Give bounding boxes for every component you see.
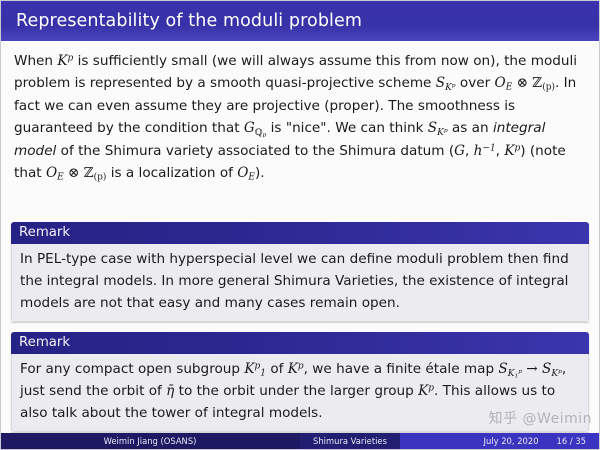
math-S-Kp-2: SKp — [428, 120, 448, 136]
slide-body-text: When Kp is sufficiently small (we will a… — [14, 50, 588, 184]
slide-title-bar: Representability of the moduli problem — [0, 0, 600, 41]
remark-block-2: Remark For any compact open subgroup Kp1… — [11, 332, 589, 432]
title-underline — [0, 41, 600, 43]
math-tensor-1: ⊗ — [512, 75, 532, 91]
math-datum-K-p: Kp — [504, 143, 520, 159]
math-K-p-1: Kp — [57, 53, 73, 69]
page-title: Representability of the moduli problem — [0, 11, 362, 31]
math-O-E-1: OE — [495, 75, 513, 91]
remark2-text-5: to the orbit under the larger group — [174, 383, 418, 399]
math-Z-p-1: ℤ(p) — [532, 75, 555, 91]
math-tensor-2: ⊗ — [64, 165, 84, 181]
remark2-text-2: of — [266, 361, 288, 377]
body-text-6: as an — [448, 120, 493, 136]
math-K1-p: Kp1 — [244, 361, 266, 377]
footer-author: Weimin Jiang (OSANS) — [0, 433, 300, 450]
body-paragraph: When Kp is sufficiently small (we will a… — [14, 50, 588, 184]
body-text-1: When — [14, 53, 57, 69]
body-text-3: over — [456, 75, 495, 91]
footer-date: July 20, 2020 — [484, 433, 539, 450]
remark-block-1: Remark In PEL-type case with hyperspecia… — [11, 222, 589, 322]
body-text-9: is a localization of — [106, 165, 237, 181]
remark-2-body: For any compact open subgroup Kp1 of Kp,… — [11, 354, 589, 432]
remark-1-body: In PEL-type case with hyperspecial level… — [11, 244, 589, 322]
math-K-p-3: Kp — [418, 383, 434, 399]
footer-right: July 20, 2020 16 / 35 — [400, 433, 600, 450]
body-text-10: ). — [255, 165, 265, 181]
math-Z-p-2: ℤ(p) — [84, 165, 107, 181]
math-S-K1p: SK1p — [498, 361, 522, 377]
remark-2-text: For any compact open subgroup Kp1 of Kp,… — [20, 358, 580, 425]
datum-sep-1: , — [465, 143, 474, 159]
footer-subject: Shimura Varieties — [300, 433, 400, 450]
slide-footer: Weimin Jiang (OSANS) Shimura Varieties J… — [0, 433, 600, 450]
math-arrow: → — [522, 361, 542, 377]
math-S-Kp-1: SKp — [436, 75, 456, 91]
math-O-E-3: OE — [237, 165, 255, 181]
body-text-5: is "nice". We can think — [266, 120, 427, 136]
math-datum-h: h−1 — [474, 143, 496, 159]
footer-page-number: 16 / 35 — [557, 433, 586, 450]
math-K-p-2: Kp — [288, 361, 304, 377]
math-datum-G: G — [454, 143, 465, 159]
remark-1-text: In PEL-type case with hyperspecial level… — [20, 248, 580, 315]
remark2-text-1: For any compact open subgroup — [20, 361, 244, 377]
math-O-E-2: OE — [46, 165, 64, 181]
body-text-7: of the Shimura variety associated to the… — [56, 143, 454, 159]
remark-2-heading: Remark — [11, 332, 589, 354]
math-S-Kp-3: SKp — [542, 361, 562, 377]
remark-1-heading: Remark — [11, 222, 589, 244]
remark2-text-3: , we have a finite étale map — [304, 361, 499, 377]
math-G-Qp: Gℚp — [244, 120, 266, 136]
presentation-slide: Representability of the moduli problem W… — [0, 0, 600, 450]
